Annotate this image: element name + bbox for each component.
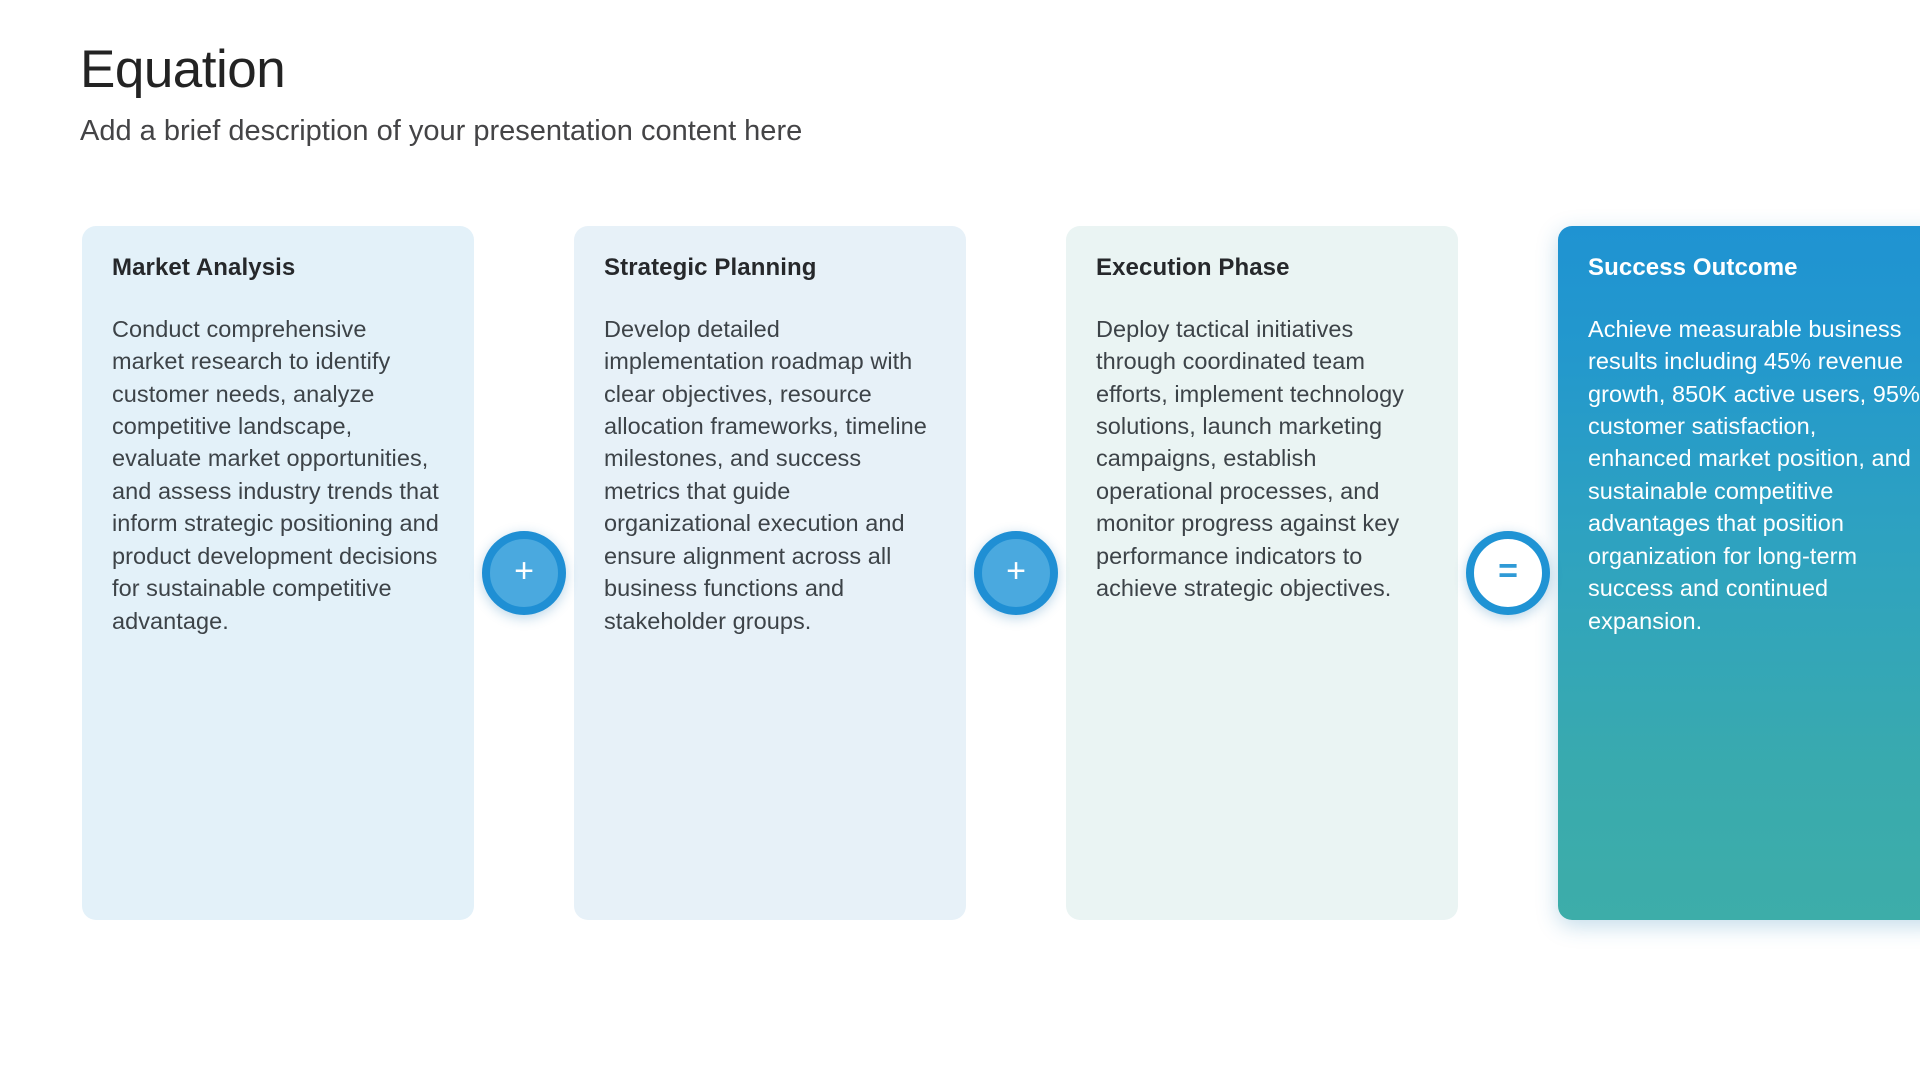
card-title: Market Analysis: [112, 254, 444, 283]
plus-icon: +: [482, 531, 566, 615]
equation-card-success-outcome[interactable]: Success Outcome Achieve measurable busin…: [1558, 226, 1920, 920]
equation-row: Market Analysis Conduct comprehensive ma…: [82, 226, 1866, 920]
card-body: Develop detailed implementation roadmap …: [604, 313, 936, 637]
card-body: Achieve measurable business results incl…: [1588, 313, 1920, 637]
operator-plus-2[interactable]: +: [966, 226, 1066, 920]
card-title: Execution Phase: [1096, 254, 1428, 283]
equation-card-execution-phase[interactable]: Execution Phase Deploy tactical initiati…: [1066, 226, 1458, 920]
equals-icon: =: [1466, 531, 1550, 615]
plus-glyph: +: [1006, 554, 1026, 588]
plus-glyph: +: [514, 554, 534, 588]
card-body: Deploy tactical initiatives through coor…: [1096, 313, 1428, 605]
equation-card-strategic-planning[interactable]: Strategic Planning Develop detailed impl…: [574, 226, 966, 920]
slide-canvas: Equation Add a brief description of your…: [0, 0, 1920, 1080]
card-body: Conduct comprehensive market research to…: [112, 313, 444, 637]
card-title: Strategic Planning: [604, 254, 936, 283]
slide-header: Equation Add a brief description of your…: [80, 40, 1480, 150]
equals-glyph: =: [1498, 554, 1518, 588]
card-title: Success Outcome: [1588, 254, 1920, 283]
operator-equals[interactable]: =: [1458, 226, 1558, 920]
page-subtitle: Add a brief description of your presenta…: [80, 113, 1480, 149]
page-title: Equation: [80, 40, 1480, 99]
plus-icon: +: [974, 531, 1058, 615]
operator-plus-1[interactable]: +: [474, 226, 574, 920]
equation-card-market-analysis[interactable]: Market Analysis Conduct comprehensive ma…: [82, 226, 474, 920]
